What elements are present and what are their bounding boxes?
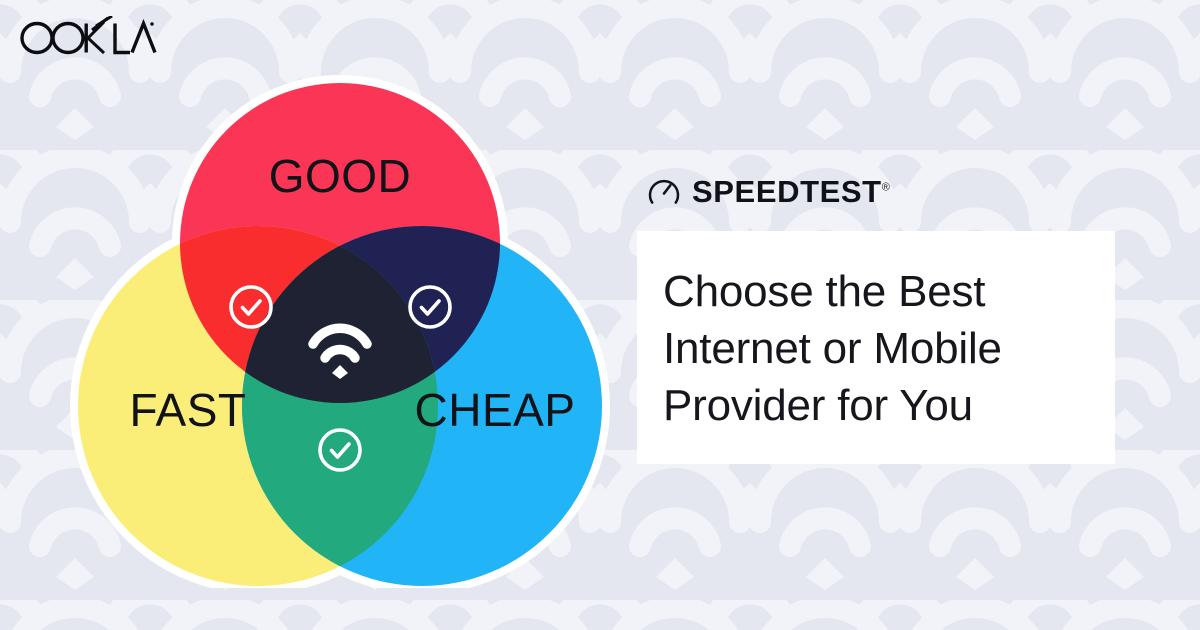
speedtest-logo[interactable]: SPEEDTEST®	[637, 168, 1127, 214]
venn-label-fast: FAST	[129, 384, 246, 436]
venn-diagram: GOOD FAST CHEAP	[40, 58, 620, 588]
headline-line-3: Provider for You	[663, 377, 1089, 434]
venn-label-cheap: CHEAP	[415, 384, 576, 436]
headline-line-2: Internet or Mobile	[663, 320, 1089, 377]
registered-trademark-symbol: ®	[882, 181, 890, 193]
right-content-column: SPEEDTEST® Choose the Best Internet or M…	[637, 168, 1127, 464]
venn-label-good: GOOD	[269, 150, 412, 202]
speedtest-wordmark-text: SPEEDTEST	[692, 174, 882, 209]
headline-card: Choose the Best Internet or Mobile Provi…	[637, 231, 1115, 464]
headline-line-1: Choose the Best	[663, 263, 1089, 320]
ookla-logo[interactable]	[18, 16, 158, 60]
speedtest-wordmark: SPEEDTEST®	[692, 176, 890, 207]
speedometer-icon	[647, 174, 681, 208]
